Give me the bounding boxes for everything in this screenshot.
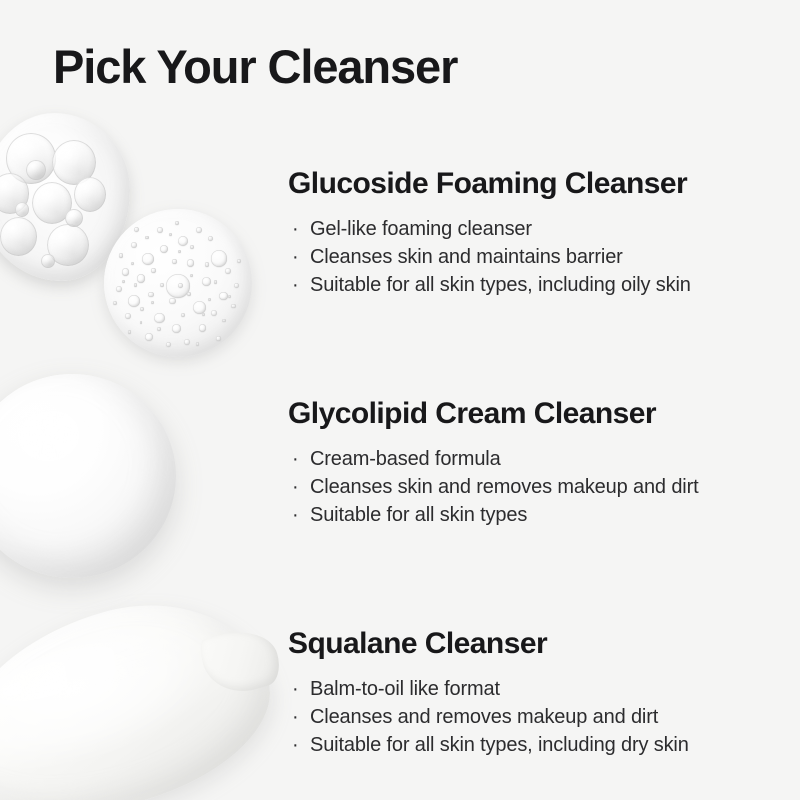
bullet-marker-icon: · [292,271,299,299]
list-item-label: Cleanses skin and removes makeup and dir… [310,476,699,498]
gel-bubble [65,209,83,227]
list-item: · Suitable for all skin types, including… [288,271,788,299]
list-item: · Cleanses skin and maintains barrier [288,243,788,271]
bullet-marker-icon: · [292,215,299,243]
balm-swipe-swatch [0,574,291,800]
product-name: Glycolipid Cream Cleanser [288,396,788,433]
list-item: · Cream-based formula [288,445,788,473]
bullet-marker-icon: · [292,703,299,731]
bullet-marker-icon: · [292,731,299,759]
list-item-label: Suitable for all skin types, including d… [310,734,689,756]
cream-sphere-swatch [0,374,176,578]
product-feature-list: · Gel-like foaming cleanser · Cleanses s… [288,215,788,299]
list-item-label: Cream-based formula [310,448,501,470]
gel-bubble [41,254,54,267]
list-item-label: Cleanses and removes makeup and dirt [310,706,658,728]
foam-disc-swatch [104,209,252,357]
page-title: Pick Your Cleanser [53,41,457,93]
gel-bubble [26,160,45,180]
bullet-marker-icon: · [292,675,299,703]
product-feature-list: · Cream-based formula · Cleanses skin an… [288,445,788,529]
product-name: Glucoside Foaming Cleanser [288,166,788,203]
bullet-marker-icon: · [292,473,299,501]
bullet-marker-icon: · [292,501,299,529]
list-item-label: Balm-to-oil like format [310,678,500,700]
list-item: · Gel-like foaming cleanser [288,215,788,243]
list-item: · Balm-to-oil like format [288,675,788,703]
product-name: Squalane Cleanser [288,626,788,663]
list-item-label: Suitable for all skin types, including o… [310,274,691,296]
product-entry-glycolipid-cream-cleanser: Glycolipid Cream Cleanser · Cream-based … [288,396,788,529]
list-item: · Suitable for all skin types [288,501,788,529]
product-entry-glucoside-foaming-cleanser: Glucoside Foaming Cleanser · Gel-like fo… [288,166,788,299]
list-item-label: Cleanses skin and maintains barrier [310,246,623,268]
list-item-label: Suitable for all skin types [310,504,527,526]
list-item: · Cleanses skin and removes makeup and d… [288,473,788,501]
cream-highlight [10,407,102,480]
bullet-marker-icon: · [292,445,299,473]
cleanser-comparison-graphic: Pick Your Cleanser [0,0,800,800]
list-item: · Suitable for all skin types, including… [288,731,788,759]
gel-bubble [0,217,37,256]
product-feature-list: · Balm-to-oil like format · Cleanses and… [288,675,788,759]
list-item-label: Gel-like foaming cleanser [310,218,532,240]
bullet-marker-icon: · [292,243,299,271]
list-item: · Cleanses and removes makeup and dirt [288,703,788,731]
product-entry-squalane-cleanser: Squalane Cleanser · Balm-to-oil like for… [288,626,788,759]
gel-bubble [74,177,107,212]
